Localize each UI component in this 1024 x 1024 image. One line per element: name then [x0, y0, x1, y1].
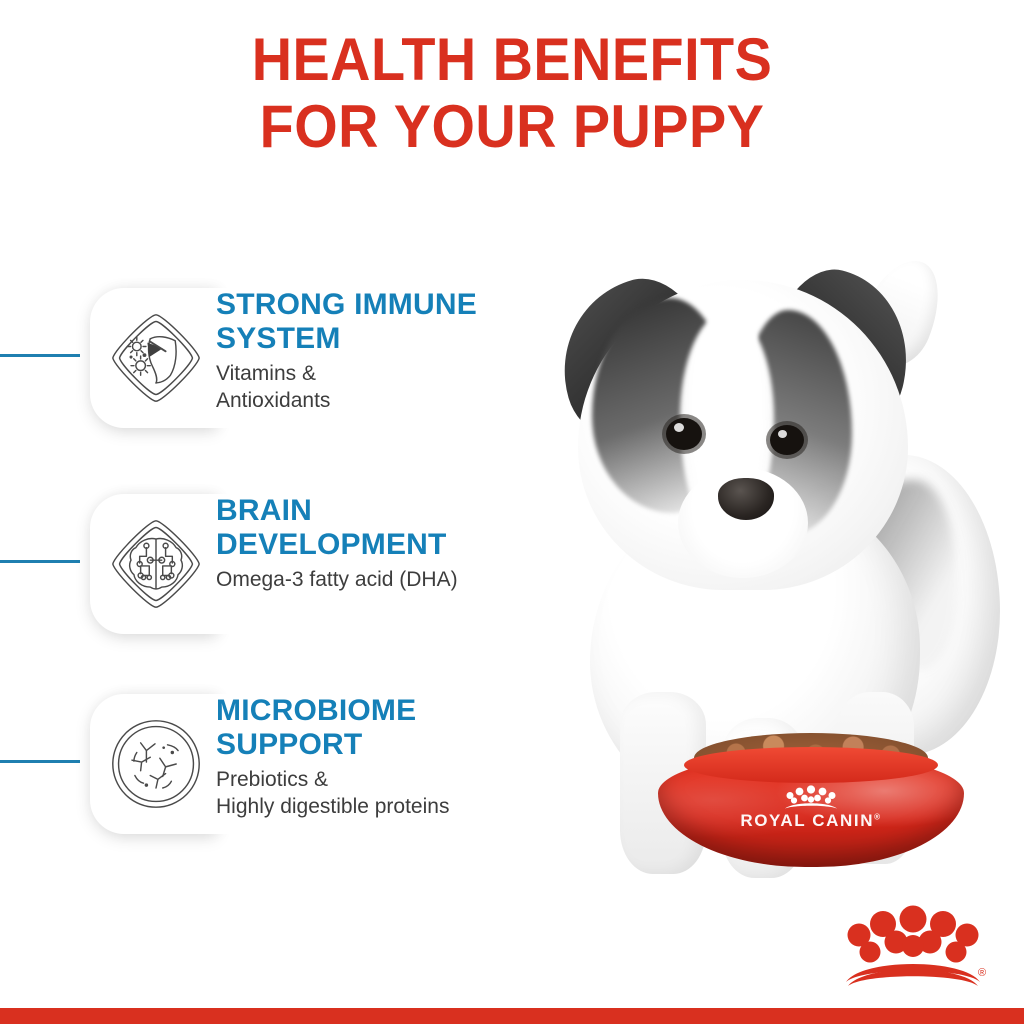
bowl-rim: [684, 747, 938, 783]
brain-circuit-icon: [108, 516, 204, 612]
page-title-line-1: HEALTH BENEFITS: [36, 26, 988, 93]
royal-canin-crown-logo: ®: [838, 900, 988, 992]
connector-line: [0, 560, 80, 563]
microbiome-bacteria-icon: [108, 716, 204, 812]
shield-germs-icon: [108, 310, 204, 406]
page-title: HEALTH BENEFITS FOR YOUR PUPPY: [36, 26, 988, 160]
registered-mark: ®: [978, 967, 986, 979]
puppy-eye-right: [770, 425, 804, 455]
bowl-brand-logo: ROYAL CANIN®: [658, 785, 964, 831]
puppy-eye-left: [666, 418, 702, 450]
registered-mark: ®: [874, 812, 882, 821]
crown-icon: [780, 785, 842, 809]
health-benefits-page: HEALTH BENEFITS FOR YOUR PUPPY: [0, 0, 1024, 1024]
crown-icon: ®: [838, 900, 988, 992]
puppy-eye-highlight-right: [778, 430, 787, 438]
puppy-eye-highlight-left: [674, 423, 684, 432]
page-title-line-2: FOR YOUR PUPPY: [36, 93, 988, 160]
bowl-brand-name: ROYAL CANIN®: [658, 811, 964, 831]
connector-line: [0, 354, 80, 357]
connector-line: [0, 760, 80, 763]
bottom-accent-bar: [0, 1008, 1024, 1024]
food-bowl: ROYAL CANIN®: [658, 733, 964, 867]
